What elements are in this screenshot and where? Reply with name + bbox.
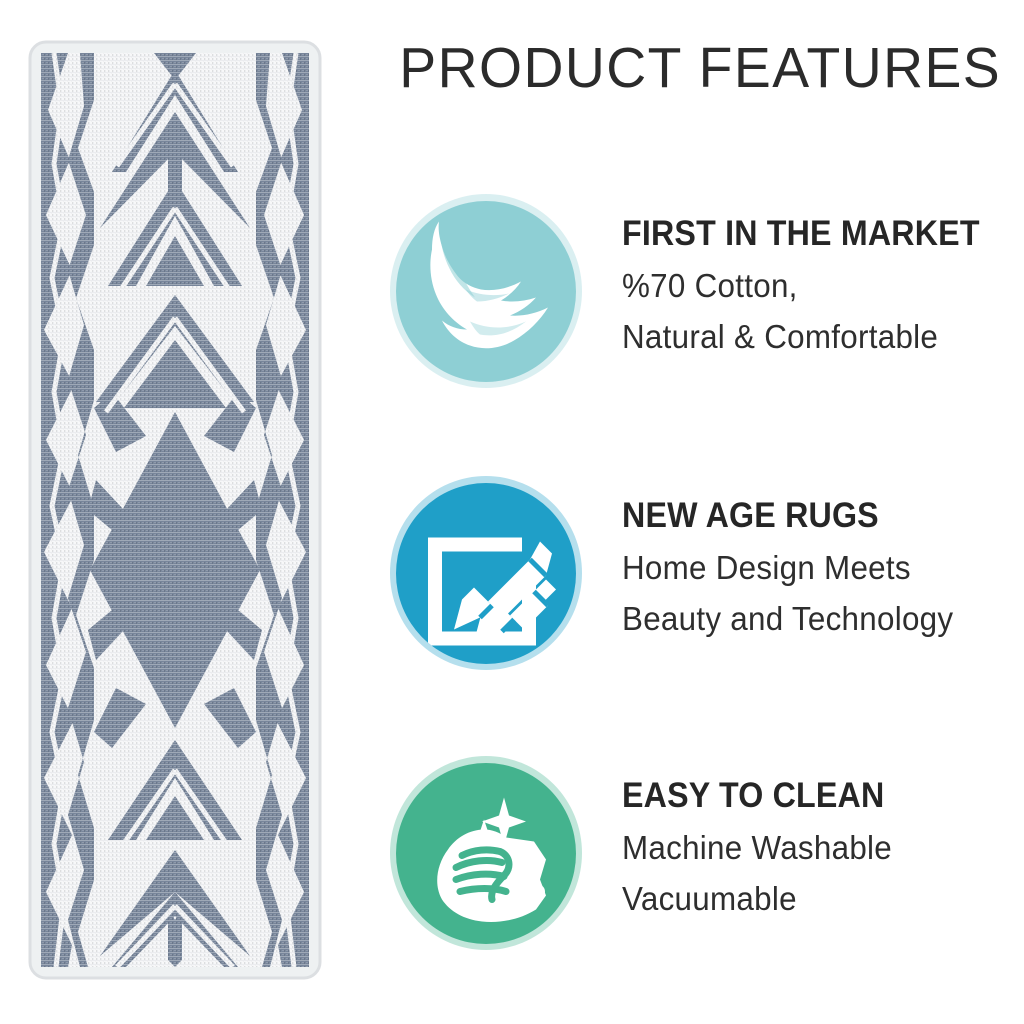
feature-text: FIRST IN THE MARKET %70 Cotton, Natural …: [586, 192, 1024, 362]
feature-description: Machine Washable Vacuumable: [622, 822, 1024, 924]
feature-heading: FIRST IN THE MARKET: [622, 214, 997, 254]
feather-icon: [396, 201, 576, 382]
feature-description: Home Design Meets Beauty and Technology: [622, 542, 1024, 644]
feature-icon-badge: [390, 476, 586, 674]
rug-illustration: [28, 40, 322, 980]
feature-description: %70 Cotton, Natural & Comfortable: [622, 260, 1024, 362]
feature-item: EASY TO CLEAN Machine Washable Vacuumabl…: [390, 754, 1024, 954]
feature-line: Natural & Comfortable: [622, 311, 1010, 362]
cleaning-hand-cloth-icon: [396, 763, 576, 944]
page-title: PRODUCT FEATURES: [399, 36, 1000, 100]
product-image: [28, 40, 322, 980]
feature-icon-badge: [390, 756, 586, 954]
feature-item: FIRST IN THE MARKET %70 Cotton, Natural …: [390, 192, 1024, 392]
icon-disc: [396, 483, 576, 664]
feature-text: EASY TO CLEAN Machine Washable Vacuumabl…: [586, 754, 1024, 924]
feature-item: NEW AGE RUGS Home Design Meets Beauty an…: [390, 474, 1024, 674]
feature-heading: NEW AGE RUGS: [622, 496, 997, 536]
feature-icon-badge: [390, 194, 586, 392]
feature-line: Beauty and Technology: [622, 593, 1010, 644]
icon-disc: [396, 201, 576, 382]
feature-heading: EASY TO CLEAN: [622, 776, 997, 816]
feature-line: Machine Washable: [622, 822, 1010, 873]
features-panel: PRODUCT FEATURES FIRST IN THE MARKET %70…: [360, 0, 1024, 1024]
design-pencil-icon: [396, 483, 576, 664]
feature-line: Vacuumable: [622, 873, 1010, 924]
icon-disc: [396, 763, 576, 944]
feature-text: NEW AGE RUGS Home Design Meets Beauty an…: [586, 474, 1024, 644]
feature-line: Home Design Meets: [622, 542, 1010, 593]
feature-line: %70 Cotton,: [622, 260, 1010, 311]
